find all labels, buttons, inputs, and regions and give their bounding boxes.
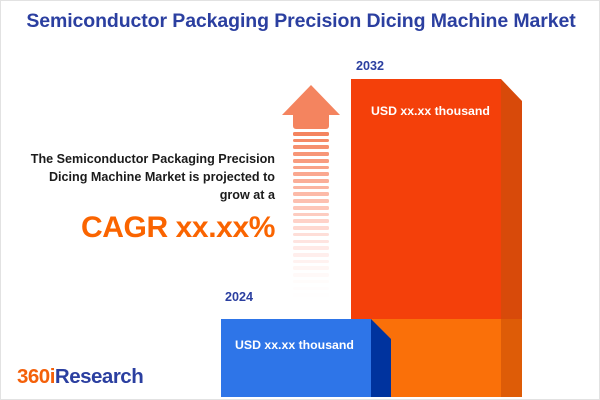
arrow-neck <box>293 114 329 129</box>
arrow-shaft-segment <box>293 253 329 257</box>
brand-logo-part-360i: 360i <box>17 365 55 388</box>
arrow-shaft-segment <box>293 273 329 277</box>
bar-2024: USD xx.xx thousand <box>221 319 371 397</box>
infographic-canvas: Semiconductor Packaging Precision Dicing… <box>0 0 600 400</box>
arrow-shaft-segment <box>293 266 329 270</box>
arrow-shaft-segment <box>293 186 329 190</box>
arrow-shaft-segment <box>293 287 329 291</box>
arrow-shaft-segment <box>293 280 329 284</box>
arrow-shaft-segment <box>293 213 329 217</box>
arrow-shaft-segment <box>293 199 329 203</box>
arrow-head-icon <box>282 85 340 115</box>
bar-year-label-2032: 2032 <box>356 59 384 73</box>
arrow-shaft-segment <box>293 166 329 170</box>
callout-cagr-value: CAGR xx.xx% <box>29 212 275 244</box>
callout-description: The Semiconductor Packaging Precision Di… <box>29 151 275 205</box>
callout-block: The Semiconductor Packaging Precision Di… <box>29 151 275 243</box>
brand-logo: 360iResearch <box>17 365 143 389</box>
arrow-shaft-segment <box>293 260 329 264</box>
brand-logo-part-research: Research <box>55 365 143 388</box>
arrow-shaft-segment <box>293 246 329 250</box>
arrow-shaft-segment <box>293 179 329 183</box>
arrow-shaft-segment <box>293 152 329 156</box>
arrow-shaft-segment <box>293 219 329 223</box>
arrow-shaft-segment <box>293 192 329 196</box>
arrow-shaft-segment <box>293 226 329 230</box>
arrow-shaft-segment <box>293 132 329 136</box>
arrow-shaft-segment <box>293 159 329 163</box>
arrow-shaft-segment <box>293 172 329 176</box>
arrow-shaft-segment <box>293 233 329 237</box>
bar-year-label-2024: 2024 <box>225 290 253 304</box>
arrow-shaft-segment <box>293 206 329 210</box>
arrow-shaft <box>293 132 329 297</box>
page-title: Semiconductor Packaging Precision Dicing… <box>23 9 579 34</box>
bar-2032-side-face-lower <box>501 319 522 397</box>
bar-2024-front-face <box>221 319 371 397</box>
arrow-shaft-segment <box>293 139 329 143</box>
bar-2024-value-label: USD xx.xx thousand <box>235 338 354 352</box>
arrow-shaft-segment <box>293 240 329 244</box>
growth-arrow-icon <box>282 85 340 297</box>
bar-2032-value-label: USD xx.xx thousand <box>371 104 490 118</box>
arrow-shaft-segment <box>293 145 329 149</box>
arrow-shaft-segment <box>293 293 329 297</box>
